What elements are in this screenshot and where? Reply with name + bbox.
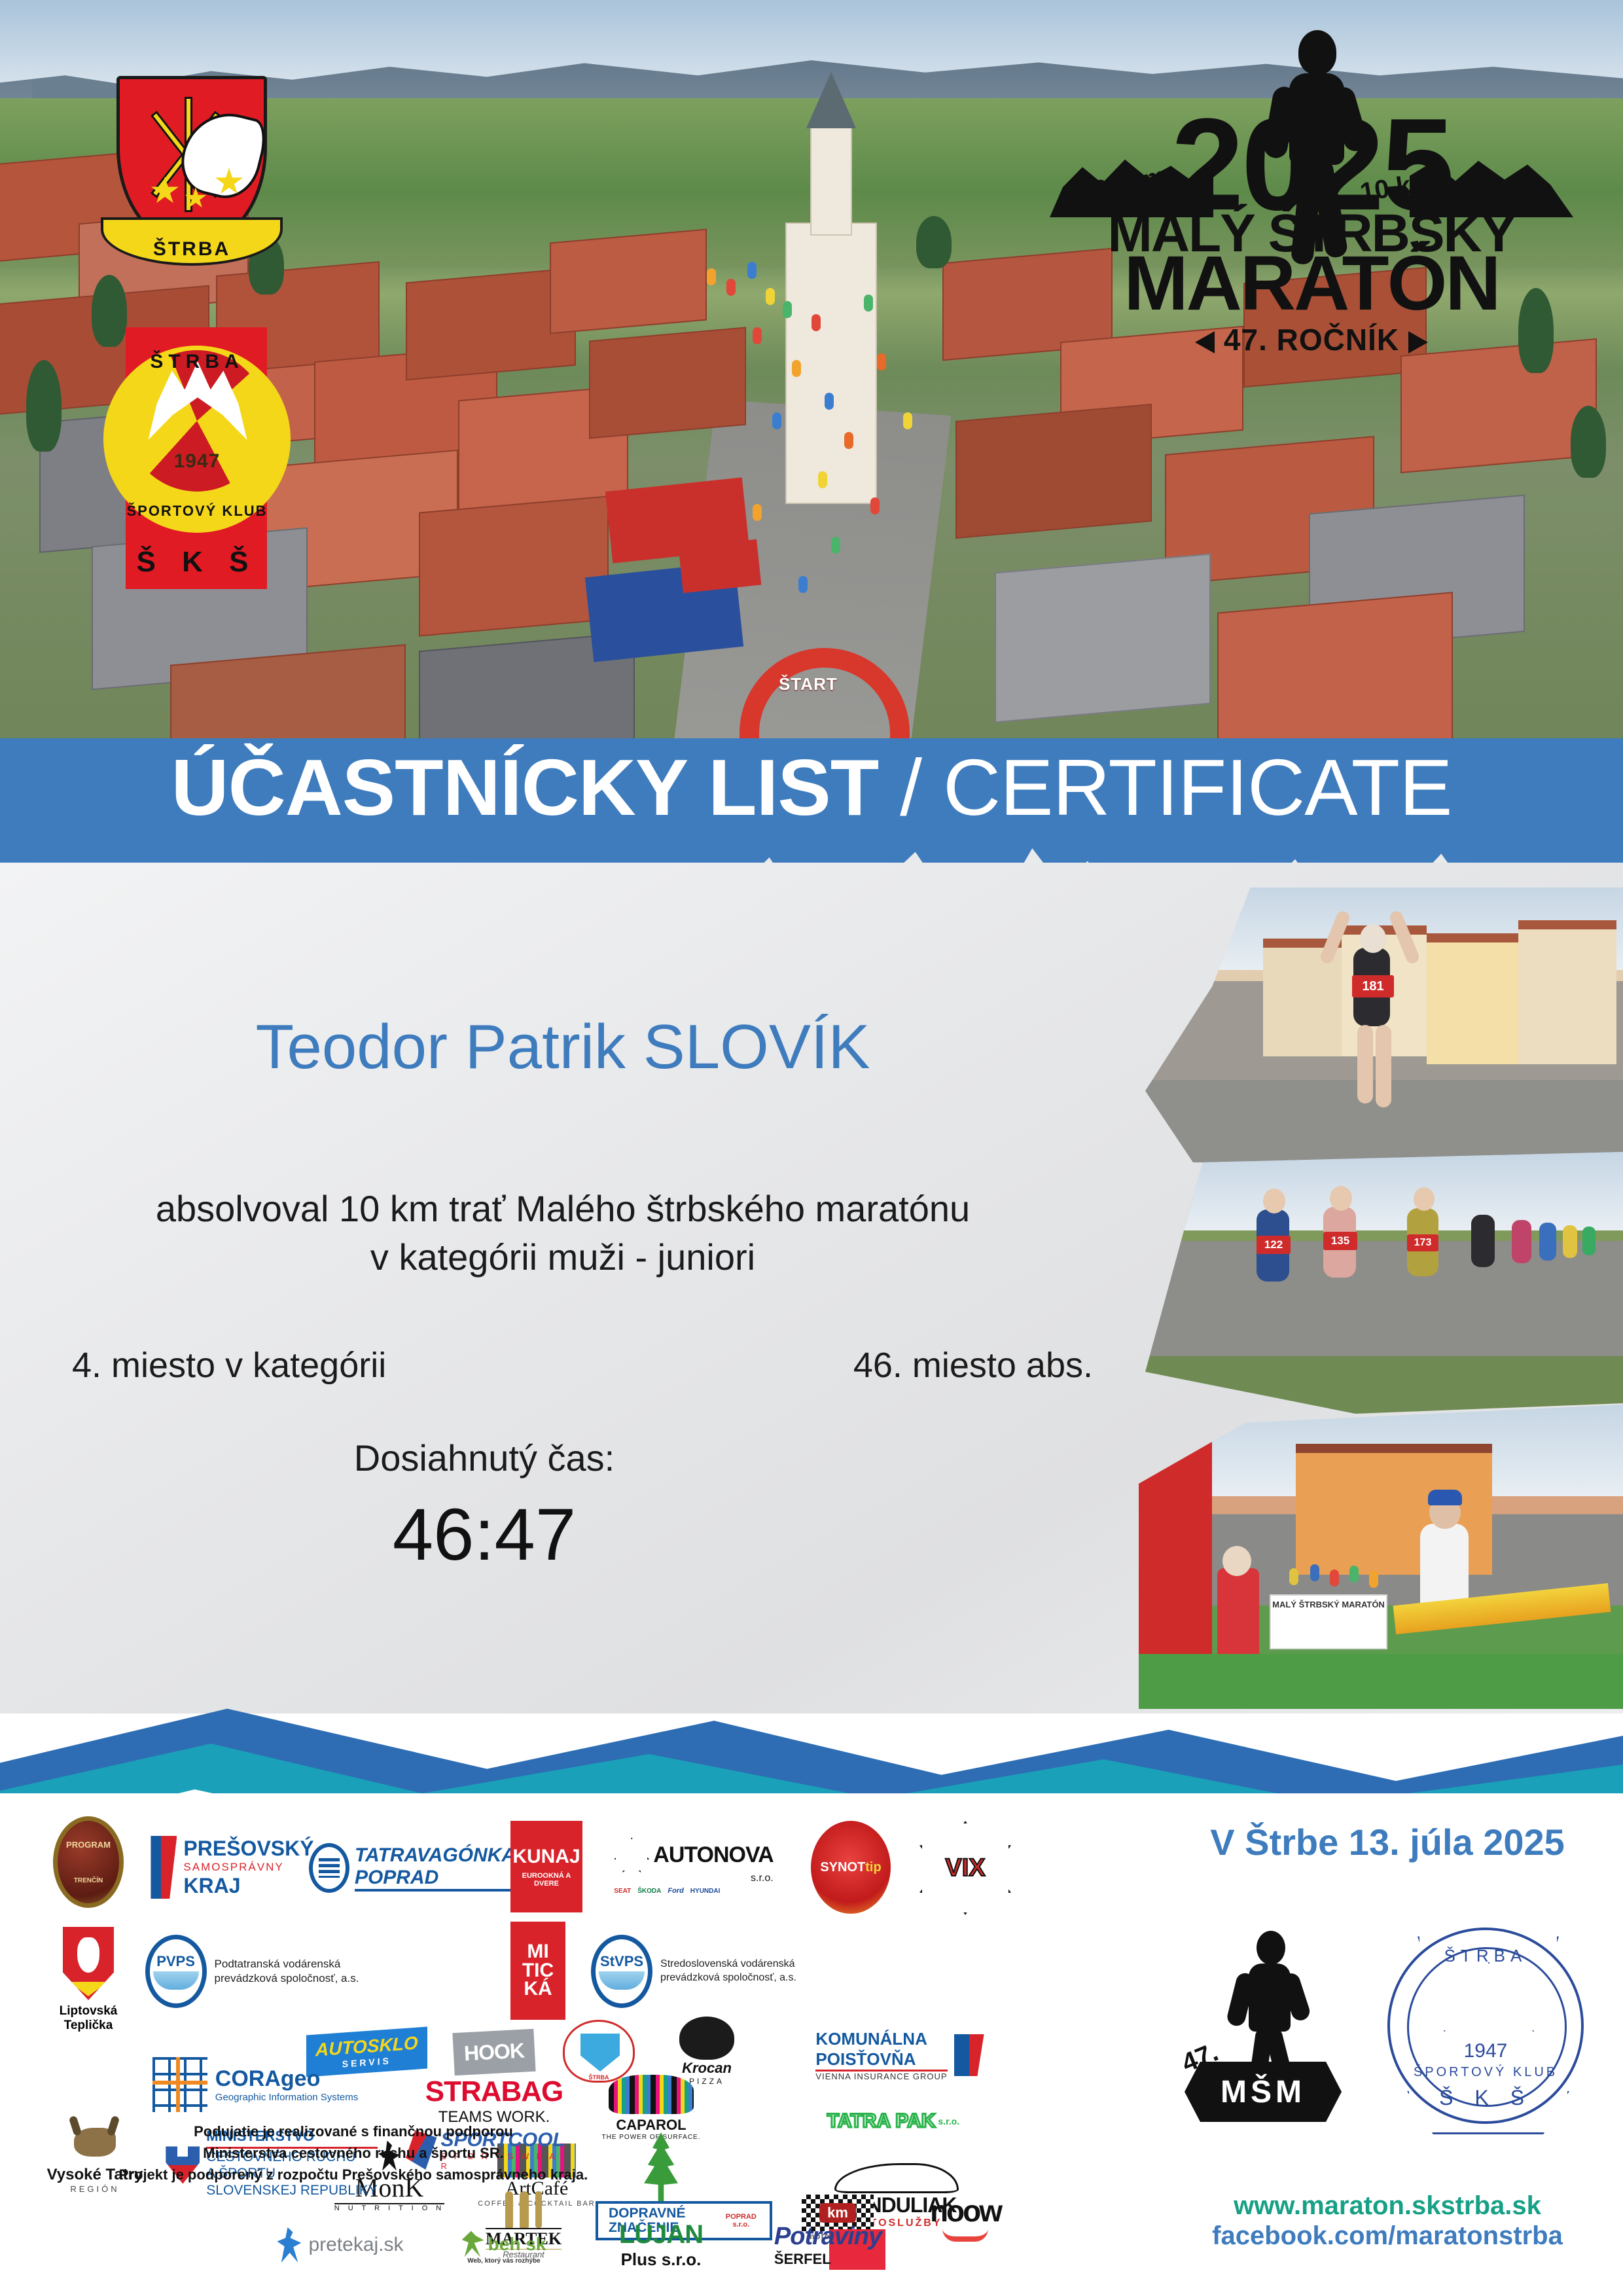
smile-icon [942,2229,988,2242]
sponsor-logo-tatravagonka: TATRAVAGÓNKA POPRAD [327,1835,497,1901]
sponsor-logo-miticka: MI TIC KÁ [510,1922,565,2020]
club-bottom-arc: ŠPORTOVÝ KLUB [103,503,291,520]
participant-name: Teodor Patrik SLOVÍK [0,1011,1126,1083]
hero-photo: ŠTART [0,0,1623,772]
event-name-line2: MARATÓN [1050,249,1573,318]
placement-row: 4. miesto v kategórii 46. miesto abs. [72,1345,1093,1386]
sponsor-label: MI TIC KÁ [510,1943,565,1999]
sponsor-sublabel-2: VIENNA INSURANCE GROUP [815,2072,947,2081]
crest-ribbon-label: ŠTRBA [153,238,230,263]
sponsor-label: CORAgeo [215,2066,321,2091]
sponsor-logo-synottip: SYNOTtip [805,1820,897,1915]
sponsor-sublabel: POISŤOVŇA [815,2049,947,2072]
sponsor-label: TATRA PAK [827,2110,936,2132]
sponsor-sublabel: Geographic Information Systems [215,2092,358,2103]
start-arch-label: ŠTART [779,674,838,694]
sponsor-logo-presovsky-kraj: PREŠOVSKÝ SAMOSPRÁVNY KRAJ [151,1831,314,1903]
sponsor-sublabel: Plus s.r.o. [619,2250,703,2270]
brand-skoda: ŠKODA [637,1888,661,1895]
msm-runner-icon [1230,1931,1309,2081]
funding-note-line-3: Projekt je podporený z rozpočtu Prešovsk… [39,2164,668,2185]
sponsor-label: pretekaj.sk [308,2234,403,2256]
behsk-runner-icon [462,2231,484,2257]
sponsor-label: STRABAG [425,2075,563,2108]
sponsor-sublabel: ŠTRBA [589,2074,609,2081]
sponsor-label: KOMUNÁLNA [815,2029,947,2049]
running-figures-icon [277,2227,303,2263]
photo-male-finisher: MALÝ ŠTRBSKÝ MARATÓN [1139,1405,1623,1709]
sponsor-logo-vix: VIX [916,1820,1014,1916]
sponsor-logo-noow: noow [910,2185,1021,2250]
footer-right-column: V Štrbe 13. júla 2025 47. MŠM ŠTRBA 1947… [1152,1793,1623,2296]
sponsor-logo-komunalna-poistovna: KOMUNÁLNA POISŤOVŇA VIENNA INSURANCE GRO… [792,2022,1008,2088]
sponsor-sublabel-2: KRAJ [183,1874,313,1898]
sponsor-sublabel: Web, ktorý vás rozhýbe [462,2257,546,2265]
sponsor-logo-program-trencin: PROGRAM TRENČÍN [46,1813,131,1911]
arrow-left-icon [1195,331,1215,353]
turkey-icon [679,2017,734,2060]
title-light: CERTIFICATE [943,743,1452,832]
sponsor-sublabel: Stredoslovenská vodárenská [660,1958,796,1971]
sponsor-sublabel: TRENČÍN [74,1877,103,1884]
tatravagonka-mark-icon [309,1843,349,1893]
certificate-description: absolvoval 10 km trať Malého štrbského m… [0,1185,1126,1282]
sponsor-sublabel: SAMOSPRÁVNY [183,1861,313,1874]
arrow-right-icon [1408,331,1428,353]
presovsky-kraj-mark-icon [151,1836,177,1899]
race-bib: 181 [1352,975,1394,997]
certificate-page: ŠTART [0,0,1623,2296]
sponsor-sublabel: POPRAD [355,1867,516,1892]
club-abbr: Š K Š [103,546,291,579]
water-wave-icon [153,1971,199,1990]
sponsor-label: SYNOT [820,1860,865,1874]
race-bib: 135 [1323,1232,1357,1250]
sponsor-logo-liptovska-teplicka: Liptovská Teplička [46,1924,131,2036]
website-link[interactable]: www.maraton.skstrba.sk [1152,2191,1623,2221]
finish-banner: MALÝ ŠTRBSKÝ MARATÓN [1270,1594,1387,1649]
sponsor-logo-pretekaj: pretekaj.sk [268,2219,412,2271]
race-bib: 122 [1257,1236,1291,1254]
autonova-star-icon [614,1837,649,1873]
brand-seat: SEAT [614,1888,631,1895]
facebook-link[interactable]: facebook.com/maratonstrba [1152,2221,1623,2251]
sponsor-logo-stvps: StVPS Stredoslovenská vodárenská prevádz… [582,1932,805,2011]
sponsor-sublabel: Podtatranská vodárenská [215,1957,359,1971]
sponsor-sublabel-2: prevádzková spoločnosť, a.s. [660,1971,796,1985]
kp-mark-icon [954,2034,984,2076]
sponsor-label: PROGRAM [66,1840,111,1850]
sponsor-sublabel: EUROOKNÁ A DVERE [510,1872,582,1888]
title-bold: ÚČASTNÍCKY LIST [171,743,878,832]
sponsor-sublabel: s.r.o. [614,1873,773,1884]
sponsor-logo-lujan: LUJAN Plus s.r.o. [602,2212,720,2278]
time-label: Dosiahnutý čas: [0,1437,969,1479]
sponsor-label: PREŠOVSKÝ [183,1837,313,1861]
absolute-place: 46. miesto abs. [853,1345,1093,1386]
event-edition: 47. ROČNÍK [1050,322,1573,357]
description-line-2: v kategórii muži - juniori [0,1233,1126,1282]
sponsor-label: TATRAVAGÓNKA [355,1844,516,1867]
sponsor-label: KUNAJ [512,1846,580,1868]
brand-ford: Ford [668,1887,683,1895]
stamp-year: 1947 [1390,2040,1581,2062]
club-stamp-icon: ŠTRBA 1947 ŠPORTOVÝ KLUB Š K Š [1387,1928,1584,2124]
category-place: 4. miesto v kategórii [72,1345,386,1386]
club-top-arc: ŠTRBA [103,351,291,373]
stamp-bottom-label: Š K Š [1390,2086,1581,2110]
sponsor-label: Liptovská [60,2004,118,2018]
sponsor-logo-potraviny-serfel: Potraviny ŠERFEL [746,2212,910,2278]
sponsor-logo-corageo: CORAgeo Geographic Information Systems [144,2049,366,2121]
msm-abbr: MŠM [1185,2062,1342,2122]
sponsor-sublabel: Teplička [60,2018,118,2033]
race-bib: 173 [1407,1234,1438,1251]
sponsor-label: AUTONOVA [653,1842,773,1868]
sponsor-label: VIX [945,1854,985,1882]
description-line-1: absolvoval 10 km trať Malého štrbského m… [0,1185,1126,1233]
sponsor-label: HOOK [463,2038,525,2065]
footer: PROGRAM TRENČÍN PREŠOVSKÝ SAMOSPRÁVNY KR… [0,1793,1623,2296]
sponsor-sublabel-2: prevádzková spoločnosť, a.s. [215,1971,359,1986]
sponsor-sublabel: s.r.o. [938,2116,959,2126]
club-year: 1947 [103,450,291,473]
brand-hyundai: HYUNDAI [690,1888,721,1895]
event-logo: 2025 31 km 10 km MALÝ ŠTRBSKÝ MARATÓN 47… [1050,26,1573,281]
municipal-crest-icon: ŠTRBA [116,76,267,266]
sponsor-label: beh sk [488,2234,546,2255]
page-title: ÚČASTNÍCKY LIST / CERTIFICATE [0,747,1623,827]
sponsor-sublabel: ŠERFEL [774,2251,882,2268]
sponsor-label: noow [930,2193,1001,2229]
church-tower [810,124,852,236]
sponsor-label: LUJAN [619,2220,703,2250]
funding-note: Podujatie je realizované s finančnou pod… [39,2121,668,2185]
title-separator: / [878,743,943,832]
sponsor-label: Potraviny [774,2223,882,2251]
corageo-grid-icon [152,2057,207,2112]
funding-note-line-1: Podujatie je realizované s finančnou pod… [39,2121,668,2142]
church-spire [806,72,856,128]
photo-runners-on-road: 122 135 173 [1145,1152,1623,1414]
sponsor-label: PVPS [156,1953,195,1970]
sponsor-logo-kunaj: KUNAJ EUROOKNÁ A DVERE [510,1821,582,1912]
sponsor-logo-behsk: beh sk Web, ktorý vás rozhýbe [432,2221,576,2274]
sponsor-label: StVPS [600,1953,643,1970]
stamp-top-label: ŠTRBA [1390,1946,1581,1966]
sponsor-logo-autonova: AUTONOVA s.r.o. SEAT ŠKODA Ford HYUNDAI [602,1817,785,1915]
sponsor-logo-tatrapak: TATRA PAK s.r.o. [811,2092,975,2151]
water-wave-icon [599,1971,645,1990]
msm-emblem-icon: 47. MŠM [1185,1931,1342,2127]
event-date: V Štrbe 13. júla 2025 [1152,1821,1623,1863]
funding-note-line-2: Ministerstva cestovného ruchu a športu S… [39,2142,668,2164]
sponsor-logo-pvps: PVPS Podtatranská vodárenská prevádzková… [144,1932,360,2011]
caparol-elephant-icon [609,2075,694,2114]
stamp-arc-label: ŠPORTOVÝ KLUB [1390,2065,1581,2080]
sponsor-sublabel: tip [865,1860,881,1874]
photo-female-finisher: 181 [1145,888,1623,1162]
sports-club-logo-icon: 1947 ŠTRBA ŠPORTOVÝ KLUB Š K Š [103,327,291,589]
photo-collage: 181 122 135 173 [1113,888,1623,1709]
time-value: 46:47 [0,1492,969,1577]
